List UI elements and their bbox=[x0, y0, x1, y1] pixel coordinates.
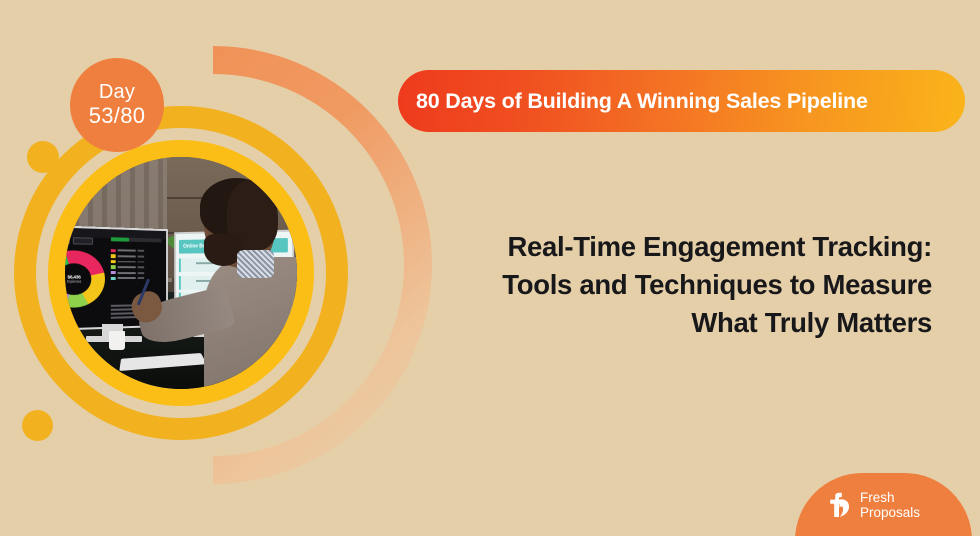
legend-value bbox=[137, 250, 144, 252]
legend-row bbox=[110, 271, 143, 274]
day-badge: Day 53/80 bbox=[70, 58, 164, 152]
legend-value bbox=[137, 266, 144, 268]
legend-label bbox=[117, 249, 135, 251]
donut-center: $6,436 Expenses bbox=[65, 263, 91, 295]
budget-progress-fill bbox=[110, 237, 129, 241]
brand-logo[interactable]: Fresh Proposals bbox=[826, 490, 920, 520]
brand-logo-line-1: Fresh bbox=[860, 490, 920, 505]
budget-progress-bar bbox=[110, 237, 161, 242]
legend-row bbox=[110, 276, 143, 279]
hero-photo-scene: $6,436 Expenses bbox=[65, 157, 297, 389]
dot-top-left bbox=[27, 141, 59, 173]
page-title-line-1: Real-Time Engagement Tracking: bbox=[410, 228, 932, 266]
legend-row bbox=[110, 248, 143, 252]
legend-swatch bbox=[110, 259, 115, 262]
date-to-chip bbox=[72, 237, 92, 244]
day-badge-value: 53/80 bbox=[89, 104, 146, 129]
dot-bottom-left bbox=[22, 410, 53, 441]
donut-amount: $6,436 bbox=[67, 274, 80, 279]
brand-logo-text: Fresh Proposals bbox=[860, 490, 920, 520]
brand-logo-line-2: Proposals bbox=[860, 505, 920, 520]
legend-label bbox=[117, 260, 135, 262]
series-banner-text: 80 Days of Building A Winning Sales Pipe… bbox=[416, 89, 868, 114]
legend-label bbox=[117, 271, 135, 273]
expenses-donut-chart: $6,436 Expenses bbox=[65, 249, 105, 308]
hero-photo: $6,436 Expenses bbox=[65, 157, 297, 389]
chart-legend bbox=[110, 248, 143, 281]
legend-swatch bbox=[110, 276, 115, 279]
legend-value bbox=[137, 271, 144, 273]
legend-label bbox=[117, 255, 135, 257]
donut-label: Expenses bbox=[66, 279, 80, 283]
legend-value bbox=[137, 277, 144, 279]
page-title-line-2: Tools and Techniques to Measure bbox=[410, 266, 932, 304]
legend-label bbox=[117, 266, 135, 268]
date-from-chip bbox=[65, 236, 69, 244]
day-badge-label: Day bbox=[99, 81, 135, 103]
slide-canvas: $6,436 Expenses bbox=[0, 0, 980, 536]
desk-mug bbox=[109, 331, 125, 350]
legend-swatch bbox=[110, 271, 115, 274]
legend-swatch bbox=[110, 254, 115, 257]
legend-swatch bbox=[110, 265, 115, 268]
legend-row bbox=[110, 254, 143, 258]
legend-value bbox=[137, 261, 144, 263]
legend-label bbox=[117, 277, 135, 279]
person-collar bbox=[237, 250, 274, 278]
legend-value bbox=[137, 255, 144, 257]
legend-row bbox=[110, 259, 143, 263]
fresh-proposals-p-icon bbox=[826, 491, 853, 519]
series-banner: 80 Days of Building A Winning Sales Pipe… bbox=[398, 70, 965, 132]
legend-swatch bbox=[110, 248, 115, 251]
legend-row bbox=[110, 265, 143, 269]
page-title-line-3: What Truly Matters bbox=[410, 304, 932, 342]
page-title: Real-Time Engagement Tracking: Tools and… bbox=[410, 228, 932, 342]
